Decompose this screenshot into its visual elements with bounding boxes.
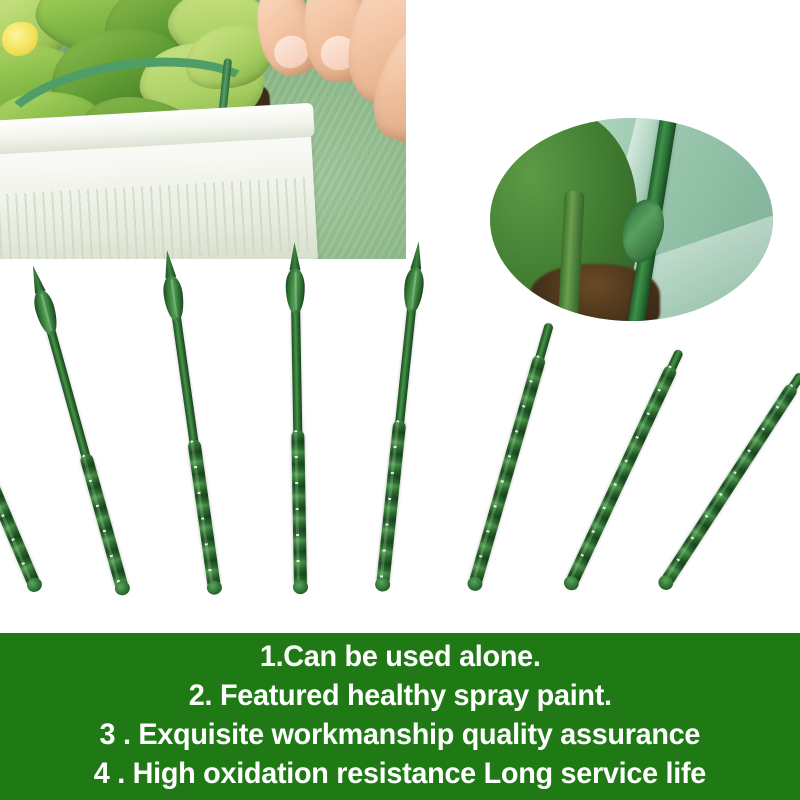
- stake: [0, 308, 39, 588]
- stake-beaded-section: [291, 430, 307, 588]
- stake-tip: [410, 241, 424, 270]
- feature-line-3: 3 . Exquisite workmanship quality assura…: [100, 715, 701, 754]
- stake: [166, 273, 219, 589]
- photo-hand-planting: [0, 0, 406, 259]
- stake: [470, 322, 554, 586]
- stake-beaded-section: [376, 420, 406, 586]
- stake-dots: [662, 384, 793, 584]
- stake-leaf-bulge: [285, 268, 305, 314]
- stake: [35, 287, 127, 590]
- stake-beaded-section: [468, 354, 546, 586]
- stake-dots: [294, 430, 300, 588]
- hand: [230, 0, 406, 130]
- stake-beaded-section: [660, 382, 799, 587]
- product-image-page: 1.Can be used alone. 2. Featured healthy…: [0, 0, 800, 800]
- stake-beaded-section: [565, 364, 678, 587]
- stake: [290, 266, 305, 588]
- stake: [661, 371, 800, 586]
- stake-dots: [568, 365, 672, 584]
- stake-end-cap: [206, 580, 223, 596]
- stake-dots: [471, 355, 539, 585]
- stake-leaf-bulge: [161, 274, 186, 322]
- stake-dots: [190, 440, 214, 589]
- feature-line-4: 4 . High oxidation resistance Long servi…: [94, 754, 706, 793]
- stake-dots: [82, 454, 122, 590]
- stake-beaded-section: [79, 453, 129, 591]
- stake-dots: [379, 420, 399, 585]
- feature-banner: 1.Can be used alone. 2. Featured healthy…: [0, 633, 800, 800]
- stake: [378, 265, 421, 586]
- feature-line-2: 2. Featured healthy spray paint.: [189, 676, 612, 715]
- feature-line-1: 1.Can be used alone.: [260, 637, 541, 676]
- stake-end-cap: [293, 580, 308, 594]
- stake-end-cap: [374, 577, 390, 592]
- stake-dots: [0, 466, 34, 587]
- product-stakes-group: [0, 262, 800, 632]
- stake-leaf-bulge: [31, 288, 62, 337]
- stake-beaded-section: [0, 464, 41, 589]
- stake: [567, 348, 684, 586]
- stake-beaded-section: [187, 439, 221, 589]
- stake-leaf-bulge: [402, 266, 426, 314]
